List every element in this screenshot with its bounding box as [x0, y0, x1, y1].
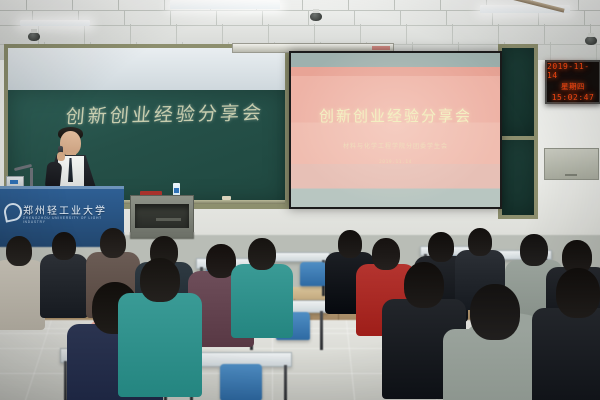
person-head [520, 234, 548, 266]
person-head [338, 230, 362, 258]
retracted-screen-panel [8, 48, 285, 90]
person-torso [0, 260, 45, 330]
person-head [470, 284, 520, 340]
eraser [222, 196, 231, 200]
led-clock-display: 2019-11-14 星期四 15:02:47 [545, 60, 600, 104]
floor-tile-seam [25, 320, 52, 400]
projection-screen: 创新创业经验分享会 材料与化学工程学院分团委学生会 2019.11.14 [289, 51, 502, 209]
person-head [468, 228, 492, 256]
cabinet-slot [156, 218, 181, 221]
security-camera-icon [310, 12, 322, 21]
security-camera-icon [28, 32, 40, 41]
person-head [100, 228, 126, 258]
cabinet-shelf [135, 204, 189, 228]
led-date: 2019-11-14 [547, 62, 599, 80]
ceiling-light [170, 0, 280, 9]
speaker-hand [57, 152, 65, 161]
person-head [6, 236, 32, 266]
slide-subtitle: 材料与化学工程学院分团委学生会 [291, 141, 500, 150]
person-head [140, 258, 180, 302]
person-torso [40, 254, 88, 318]
classroom-photo: 创新创业经验分享会 创新创业经验分享会 材料与化学工程学院分团委学生会 2019… [0, 0, 600, 400]
podium-university-name: 郑州轻工业大学 [23, 202, 107, 217]
person-head [556, 268, 600, 318]
chalkboard-handwriting: 创新创业经验分享会 [65, 98, 266, 129]
led-time: 15:02:47 [552, 93, 595, 102]
classroom-chair [300, 262, 326, 286]
floor-tile-seam [346, 320, 355, 400]
slide-glow [291, 53, 500, 207]
av-console-cabinet [130, 195, 194, 239]
person-head [52, 232, 76, 260]
person-head [372, 238, 400, 270]
person-torso [532, 308, 600, 400]
wall-service-panel [544, 148, 599, 180]
desk-leg [320, 311, 323, 350]
person-head [404, 262, 444, 308]
podium-university-name-en: ZHENGZHOU UNIVERSITY OF LIGHT INDUSTRY [23, 216, 124, 224]
person-torso [118, 293, 202, 397]
classroom-chair [220, 364, 262, 400]
chalkboard-right [502, 48, 534, 136]
university-logo-icon [2, 201, 23, 222]
security-camera-icon [585, 36, 597, 45]
chalkboard-right-lower [502, 140, 534, 215]
person-head [248, 238, 276, 270]
desk-leg [284, 365, 287, 400]
presentation-slide: 创新创业经验分享会 材料与化学工程学院分团委学生会 2019.11.14 [291, 53, 500, 207]
person-head [428, 232, 454, 262]
slide-title: 创新创业经验分享会 [291, 105, 500, 126]
led-weekday: 星期四 [561, 81, 585, 92]
ceiling-light [20, 20, 90, 26]
slide-date: 2019.11.14 [291, 160, 500, 165]
roller-badge [372, 46, 390, 50]
person-torso [231, 264, 293, 338]
